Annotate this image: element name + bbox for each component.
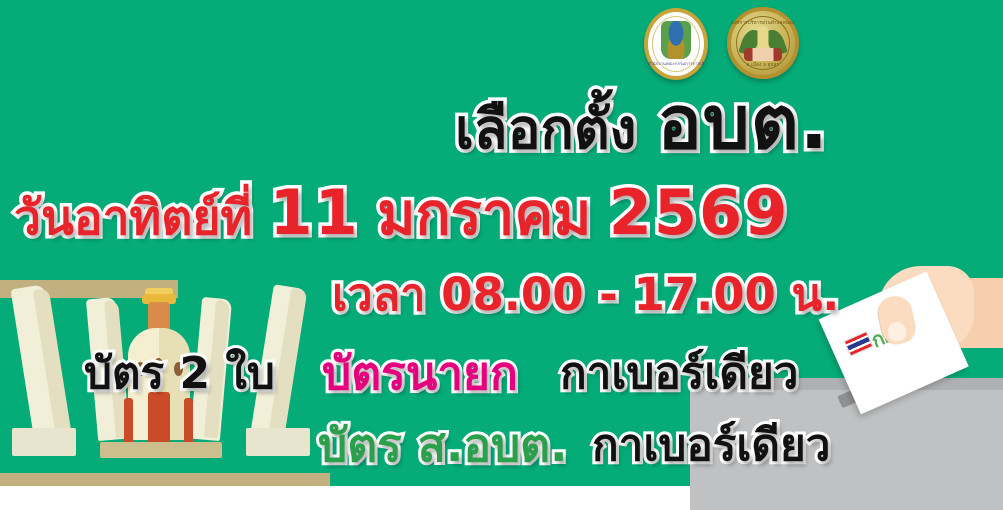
headline: เลือกตั้ง อบต. (455, 86, 829, 160)
date-weekday: วันอาทิตย์ที่ (14, 190, 252, 246)
election-poster: สำนักงานคณะกรรมการการเลือกตั้ง องค์การบร… (0, 0, 1003, 510)
monument-door-right (184, 398, 193, 446)
seal-local-admin-caption-bottom: อ.เมือง จ.อุบลฯ (731, 61, 795, 68)
seal-local-admin-caption-top: องค์การบริหารส่วนตำบลหนองขอน (731, 19, 795, 26)
date-day: 11 (270, 176, 360, 249)
ballot-row-1-instruction: กาเบอร์เดียว (560, 352, 798, 396)
ballot-row-2-instruction: กาเบอร์เดียว (592, 424, 830, 468)
monument-base-far-right (246, 428, 310, 456)
hand-casting-ballot-illustration: กกต. (826, 248, 1003, 398)
handshake-icon (744, 48, 782, 61)
monument-ground (0, 473, 330, 486)
election-date-line: วันอาทิตย์ที่ 11 มกราคม 2569 (14, 182, 789, 244)
ballot-row-1-type: บัตรนายก (322, 350, 518, 396)
monument-base-far-left (12, 428, 76, 456)
ballot-row-2-type: บัตร ส.อบต. (318, 422, 568, 468)
seal-ect-logo: สำนักงานคณะกรรมการการเลือกตั้ง (644, 8, 708, 80)
monument-door-left (124, 398, 133, 446)
headline-main: อบต. (657, 80, 829, 166)
date-year: 2569 (609, 176, 790, 249)
seal-ect-caption: สำนักงานคณะกรรมการการเลือกตั้ง (648, 60, 704, 67)
monument-door-center (148, 392, 170, 448)
seal-ect-emblem (661, 21, 691, 59)
ballot-count-label: บัตร 2 ใบ (84, 352, 275, 396)
date-month: มกราคม (377, 180, 591, 248)
election-time-line: เวลา 08.00 - 17.00 น. (332, 272, 839, 317)
monument-step-upper (100, 442, 222, 458)
seal-local-admin-logo: องค์การบริหารส่วนตำบลหนองขอน อ.เมือง จ.อ… (727, 7, 799, 79)
headline-prefix: เลือกตั้ง (455, 97, 636, 161)
